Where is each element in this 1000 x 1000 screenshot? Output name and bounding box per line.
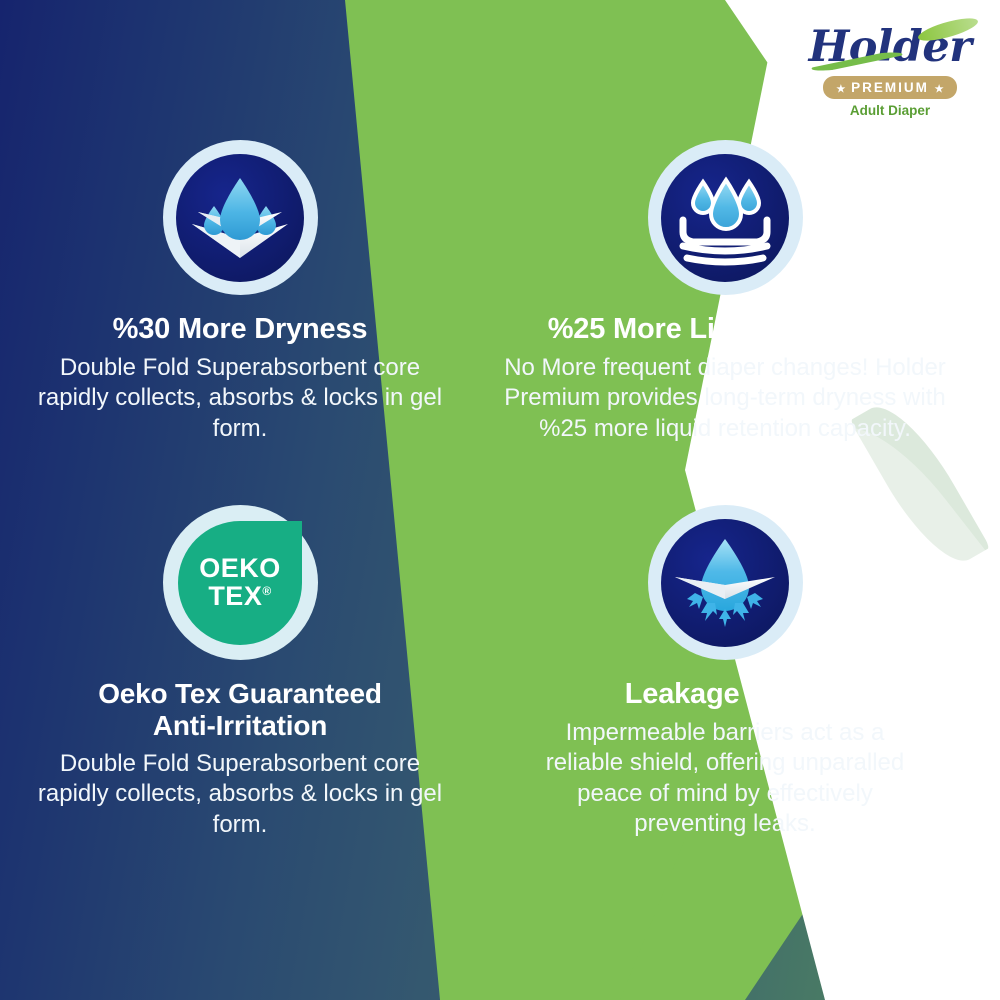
premium-badge-text: PREMIUM [851,80,929,95]
oeko-line-2: TEX® [208,583,271,611]
feature-card-oeko-tex: OEKO TEX® Oeko Tex Guaranteed Anti-Irrit… [20,505,460,840]
oeko-tex-badge-icon: OEKO TEX® [163,505,318,660]
leakage-block-svg [669,527,781,639]
brand-premium-badge: ★ PREMIUM ★ [823,76,956,99]
droplet-layers-svg [184,162,296,274]
feature-icon-ring [648,505,803,660]
brand-wordmark: Holder [809,26,972,69]
feature-card-leakage-block: Leakage Block Impermeable barriers act a… [500,505,950,840]
feature-icon-ring [648,140,803,295]
feature-title: Oeko Tex Guaranteed Anti-Irritation [20,678,460,743]
brand-logo: Holder ★ PREMIUM ★ Adult Diaper [800,26,980,144]
oeko-line-1: OEKO [199,555,281,583]
droplets-over-layers-svg [669,162,781,274]
feature-title-line-2: Anti-Irritation [153,710,327,741]
oeko-tex-shape: OEKO TEX® [178,521,302,645]
feature-icon-ring [163,140,318,295]
feature-title: %25 More Liduid Capacity [490,313,960,347]
feature-card-liquid-capacity: %25 More Liduid Capacity No More frequen… [490,140,960,444]
brand-subtitle: Adult Diaper [800,103,980,118]
registered-mark-icon: ® [262,584,271,598]
feature-description: Double Fold Superabsorbent core rapidly … [35,749,445,840]
product-feature-poster: Holder ★ PREMIUM ★ Adult Diaper [0,0,1000,1000]
feature-title: Leakage Block [500,678,950,712]
feature-title: %30 More Dryness [20,313,460,347]
premium-star-left-icon: ★ [836,84,845,95]
feature-description: Impermeable barriers act as a reliable s… [525,718,925,840]
feature-card-dryness: %30 More Dryness Double Fold Superabsorb… [20,140,460,444]
droplet-layers-icon [176,154,304,282]
premium-star-right-icon: ★ [935,84,944,95]
feature-title-line-1: Oeko Tex Guaranteed [98,678,382,709]
feature-description: Double Fold Superabsorbent core rapidly … [35,353,445,444]
feature-description: No More frequent diaper changes! Holder … [501,353,949,444]
leakage-block-icon [661,519,789,647]
droplets-over-layers-icon [661,154,789,282]
